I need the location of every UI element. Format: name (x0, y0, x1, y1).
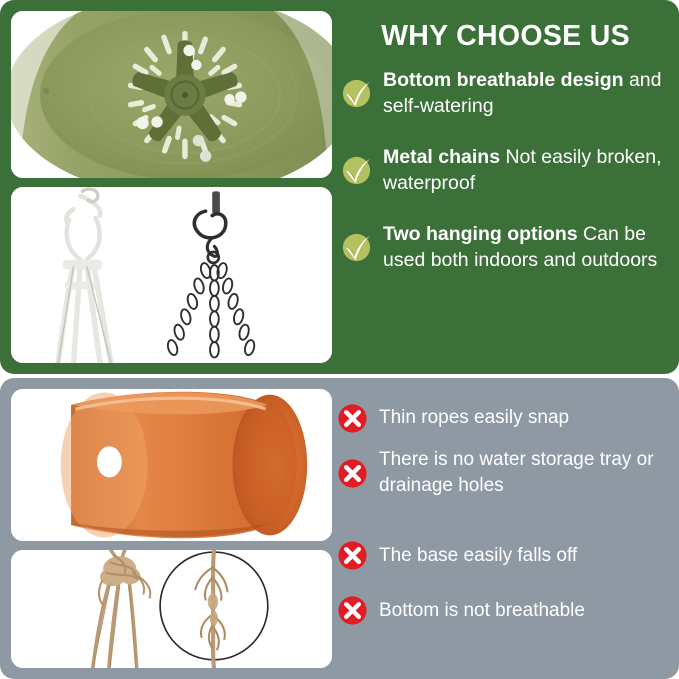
page-title: WHY CHOOSE US (340, 22, 671, 51)
frayed-rope-photo (11, 550, 332, 668)
check-circle-icon (340, 231, 373, 264)
list-item-lead: Two hanging options (383, 223, 578, 245)
list-item-text: The base easily falls off (379, 543, 577, 569)
list-item: Two hanging options Can be used both ind… (340, 221, 671, 274)
cons-bullet-list-lower: The base easily falls off Bottom is not … (336, 539, 671, 627)
list-item-text: Thin ropes easily snap (379, 405, 569, 431)
x-circle-icon (336, 539, 369, 572)
pros-panel: WHY CHOOSE US Bottom breathable design a… (0, 0, 679, 374)
list-item-text: Two hanging options Can be used both ind… (383, 221, 671, 274)
list-item-text: Bottom breathable design and self-wateri… (383, 67, 671, 120)
cons-bullet-list-upper: Thin ropes easily snap There is no water… (336, 402, 671, 499)
frayed-rope-illustration (11, 550, 332, 668)
pot-bottom-illustration (11, 11, 332, 178)
list-item-lead: Metal chains (383, 146, 500, 168)
x-circle-icon (336, 594, 369, 627)
list-item: Thin ropes easily snap (336, 402, 671, 435)
hangers-illustration (11, 187, 332, 363)
pot-bottom-photo (11, 11, 332, 178)
list-item-lead: Bottom breathable design (383, 69, 624, 91)
x-circle-icon (336, 457, 369, 490)
list-item: Metal chains Not easily broken, waterpro… (340, 144, 671, 197)
list-item: The base easily falls off (336, 539, 671, 572)
cons-panel: Thin ropes easily snap There is no water… (0, 378, 679, 679)
hangers-photo (11, 187, 332, 363)
check-circle-icon (340, 77, 373, 110)
pros-media-column (0, 0, 332, 374)
pros-bullet-list: Bottom breathable design and self-wateri… (340, 67, 671, 274)
list-item: There is no water storage tray or draina… (336, 447, 671, 499)
check-circle-icon (340, 154, 373, 187)
comparison-infographic: WHY CHOOSE US Bottom breathable design a… (0, 0, 679, 679)
list-item-text: There is no water storage tray or draina… (379, 447, 671, 499)
list-item: Bottom breathable design and self-wateri… (340, 67, 671, 120)
list-item-text: Bottom is not breathable (379, 598, 585, 624)
cons-media-column (0, 378, 332, 679)
pros-content: WHY CHOOSE US Bottom breathable design a… (332, 0, 679, 374)
terracotta-pot-illustration (11, 389, 332, 541)
list-item-text: Metal chains Not easily broken, waterpro… (383, 144, 671, 197)
list-item: Bottom is not breathable (336, 594, 671, 627)
cons-content: Thin ropes easily snap There is no water… (332, 378, 679, 679)
x-circle-icon (336, 402, 369, 435)
terracotta-pot-photo (11, 389, 332, 541)
